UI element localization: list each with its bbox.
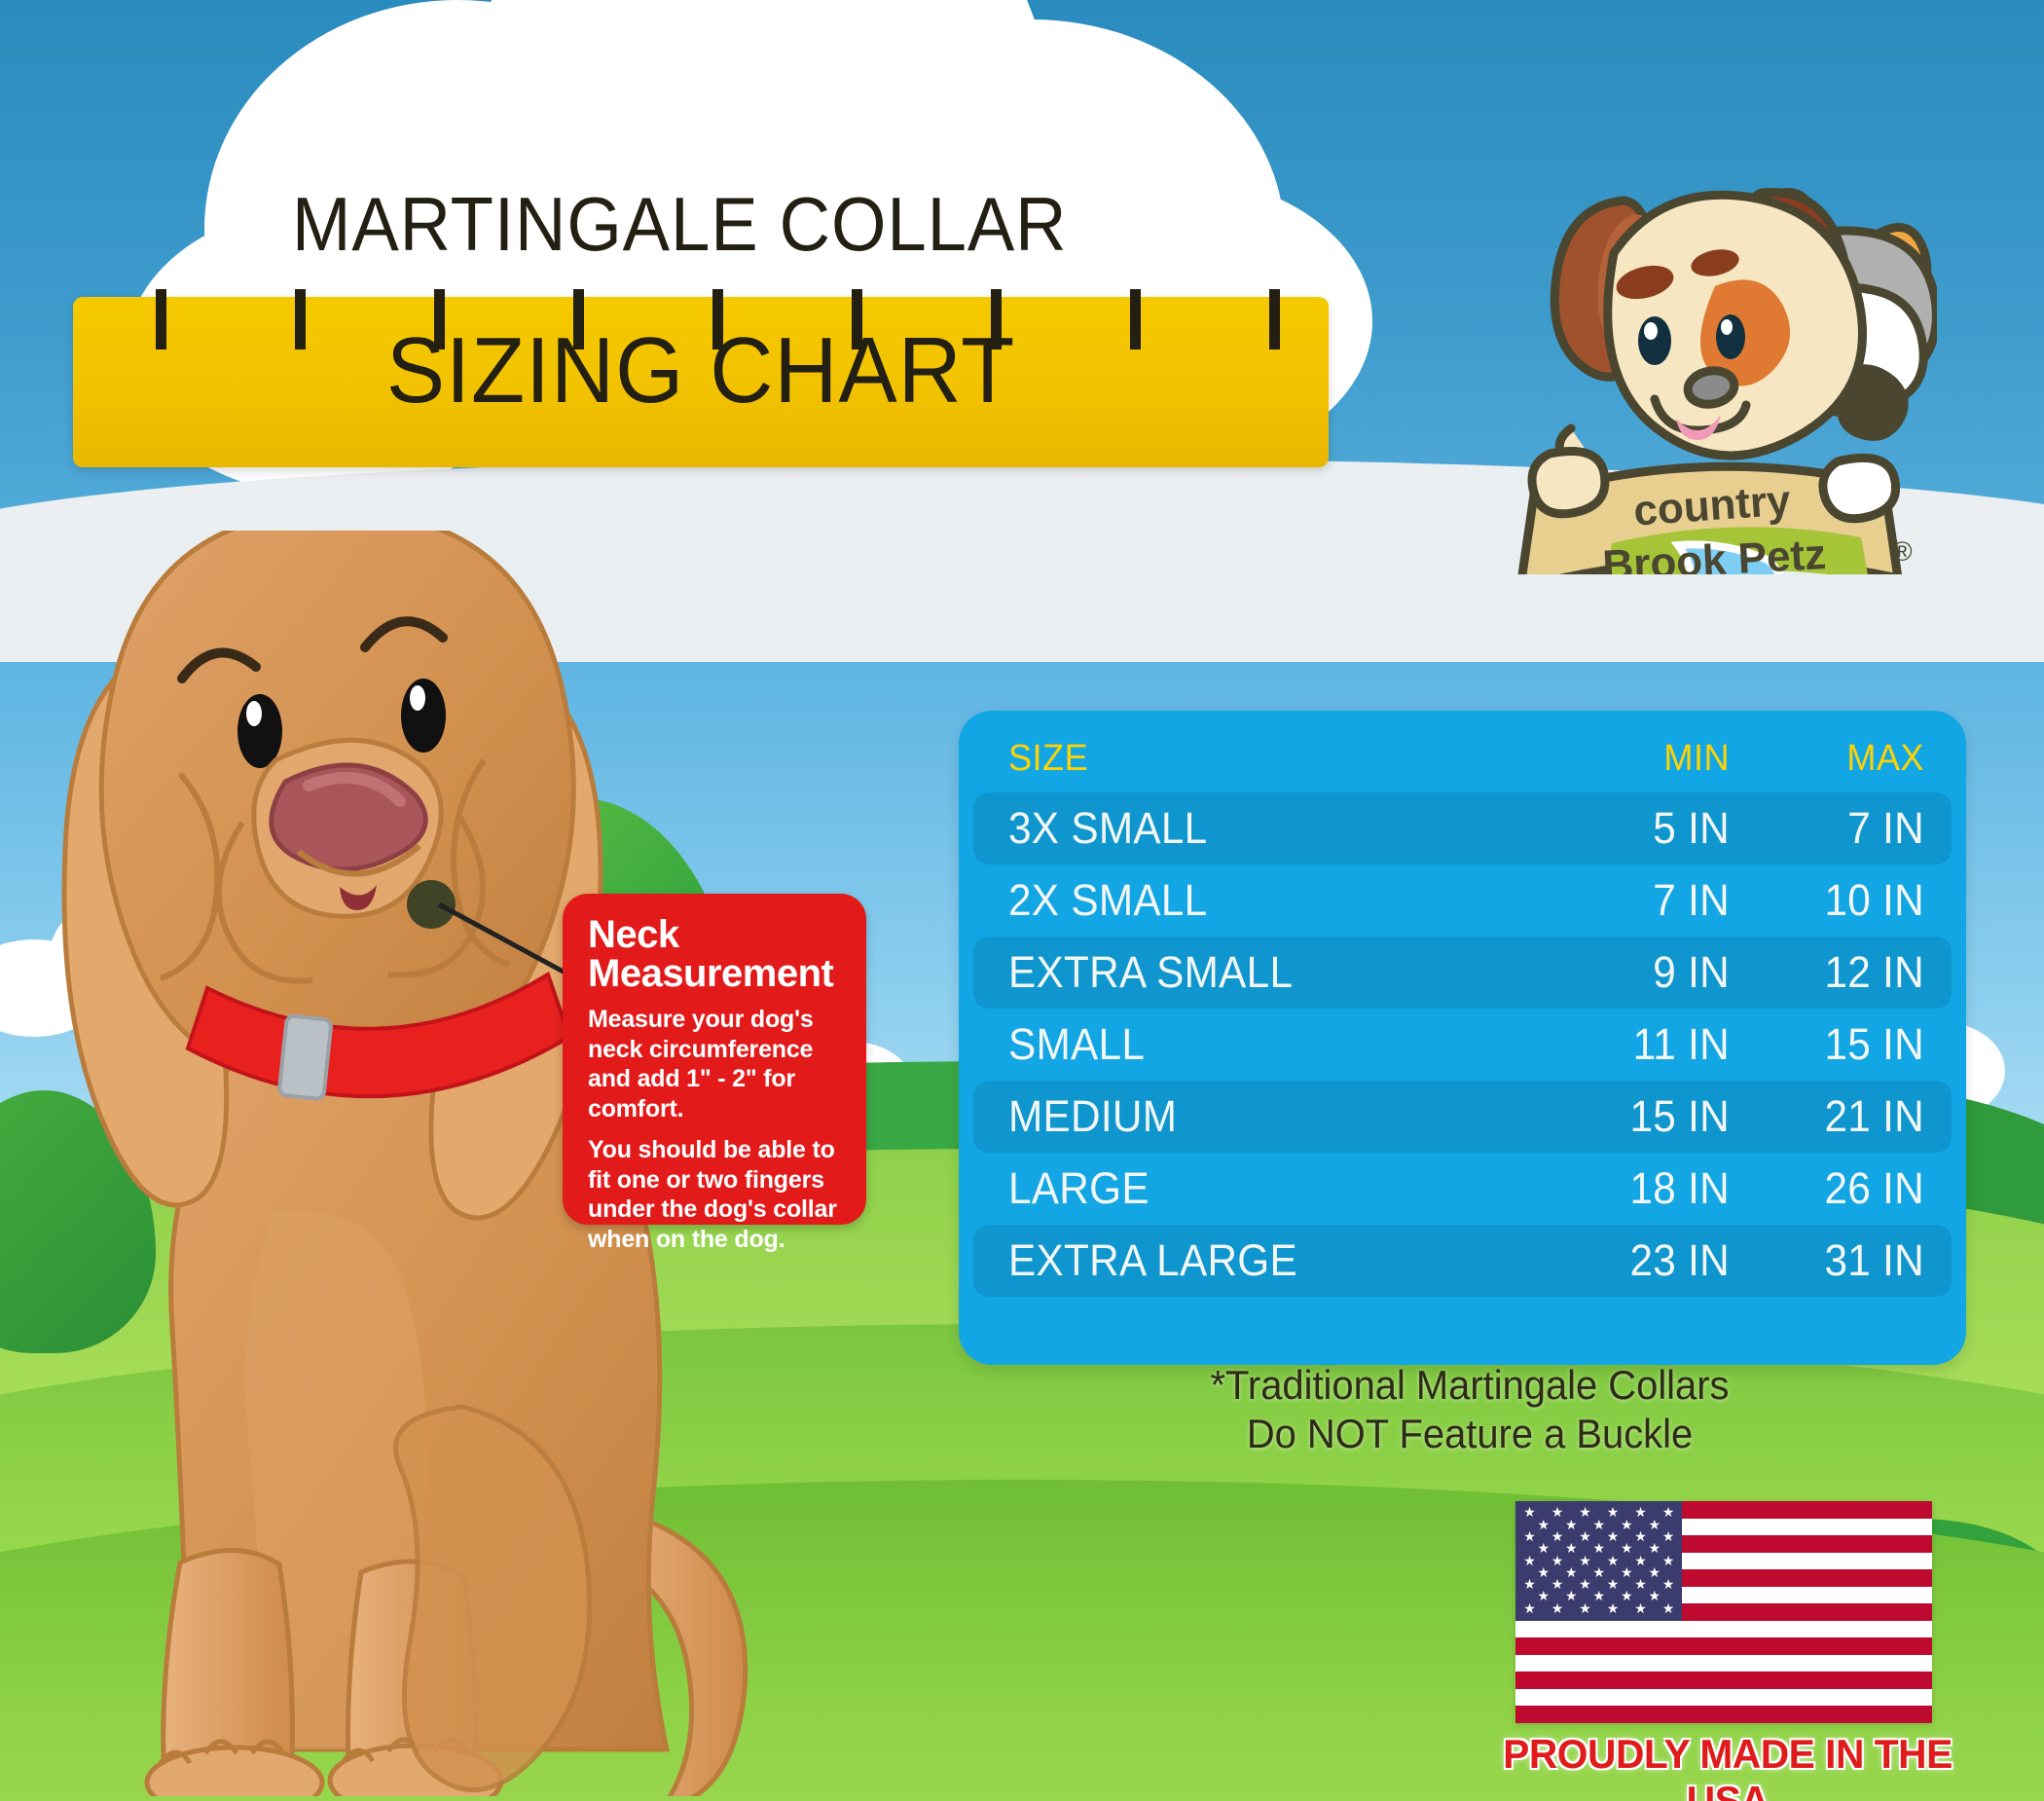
usa-flag-icon: ★★★★★★★★★★★★★★★★★★★★★★★★★★★★★★★★★★★★★★★★… xyxy=(1515,1501,1932,1723)
flag-star-icon: ★ xyxy=(1621,1566,1632,1578)
flag-star-icon: ★ xyxy=(1579,1578,1590,1590)
flag-star-icon: ★ xyxy=(1662,1555,1674,1566)
flag-star-icon: ★ xyxy=(1538,1542,1550,1554)
cell-size: SMALL xyxy=(1008,1019,1476,1070)
cell-size: MEDIUM xyxy=(1008,1091,1476,1142)
buckle-note-line-2: Do NOT Feature a Buckle xyxy=(1054,1410,1886,1458)
sizing-table-panel: SIZE MIN MAX 3X SMALL 5 IN 7 IN 2X SMALL… xyxy=(959,711,1966,1365)
flag-star-icon: ★ xyxy=(1634,1530,1646,1542)
column-header-max: MAX xyxy=(1739,738,1924,780)
cell-max: 7 IN xyxy=(1741,803,1924,854)
flag-star-icon: ★ xyxy=(1523,1530,1535,1542)
table-row: 3X SMALL 5 IN 7 IN xyxy=(973,792,1952,864)
flag-star-icon: ★ xyxy=(1662,1506,1674,1518)
cell-max: 31 IN xyxy=(1741,1235,1924,1286)
flag-star-icon: ★ xyxy=(1607,1530,1619,1542)
flag-star-icon: ★ xyxy=(1565,1590,1577,1601)
flag-star-icon: ★ xyxy=(1551,1555,1563,1566)
sizing-table: SIZE MIN MAX 3X SMALL 5 IN 7 IN 2X SMALL… xyxy=(973,724,1952,1297)
column-header-size: SIZE xyxy=(1008,738,1480,780)
flag-star-icon: ★ xyxy=(1523,1555,1535,1566)
table-row: EXTRA LARGE 23 IN 31 IN xyxy=(973,1225,1952,1297)
sizing-chart-poster: MARTINGALE COLLAR SIZING CHART xyxy=(0,0,2044,1801)
cell-min: 9 IN xyxy=(1519,947,1730,998)
cell-max: 12 IN xyxy=(1741,947,1924,998)
callout-paragraph-2: You should be able to fit one or two fin… xyxy=(588,1135,845,1254)
flag-star-icon: ★ xyxy=(1634,1555,1646,1566)
page-title: SIZING CHART xyxy=(111,322,1292,421)
registered-mark-icon: ® xyxy=(1892,536,1913,567)
table-row: EXTRA SMALL 9 IN 12 IN xyxy=(973,937,1952,1009)
flag-star-icon: ★ xyxy=(1565,1566,1577,1578)
flag-star-icon: ★ xyxy=(1551,1506,1563,1518)
flag-star-icon: ★ xyxy=(1579,1506,1590,1518)
flag-star-icon: ★ xyxy=(1538,1566,1550,1578)
flag-star-icon: ★ xyxy=(1649,1519,1661,1530)
flag-star-icon: ★ xyxy=(1662,1578,1674,1590)
table-header-row: SIZE MIN MAX xyxy=(973,724,1952,792)
made-in-usa-label: PROUDLY MADE IN THE USA xyxy=(1496,1731,1958,1801)
table-row: SMALL 11 IN 15 IN xyxy=(973,1009,1952,1081)
brand-logo: country Brook Petz ® xyxy=(1470,107,1937,574)
cell-max: 10 IN xyxy=(1741,875,1924,926)
collar-pointer-dot xyxy=(407,880,456,929)
flag-star-icon: ★ xyxy=(1662,1602,1674,1614)
cell-size: 3X SMALL xyxy=(1008,803,1476,854)
cell-min: 15 IN xyxy=(1519,1091,1730,1142)
flag-star-icon: ★ xyxy=(1593,1590,1605,1601)
cell-max: 21 IN xyxy=(1741,1091,1924,1142)
flag-star-icon: ★ xyxy=(1634,1602,1646,1614)
flag-star-icon: ★ xyxy=(1565,1542,1577,1554)
table-row: MEDIUM 15 IN 21 IN xyxy=(973,1081,1952,1153)
flag-star-icon: ★ xyxy=(1607,1555,1619,1566)
neck-measurement-callout: Neck Measurement Measure your dog's neck… xyxy=(563,894,866,1225)
flag-star-icon: ★ xyxy=(1579,1530,1590,1542)
cell-size: EXTRA LARGE xyxy=(1008,1235,1476,1286)
flag-star-icon: ★ xyxy=(1551,1578,1563,1590)
flag-star-icon: ★ xyxy=(1523,1602,1535,1614)
flag-star-icon: ★ xyxy=(1621,1590,1632,1601)
flag-star-icon: ★ xyxy=(1634,1506,1646,1518)
flag-star-icon: ★ xyxy=(1551,1530,1563,1542)
flag-star-icon: ★ xyxy=(1523,1506,1535,1518)
column-header-min: MIN xyxy=(1517,738,1731,780)
flag-star-icon: ★ xyxy=(1607,1602,1619,1614)
callout-paragraph-1: Measure your dog's neck circumference an… xyxy=(588,1005,845,1123)
cell-min: 18 IN xyxy=(1519,1163,1730,1214)
flag-star-icon: ★ xyxy=(1538,1519,1550,1530)
flag-star-icon: ★ xyxy=(1662,1530,1674,1542)
flag-star-icon: ★ xyxy=(1523,1578,1535,1590)
flag-star-icon: ★ xyxy=(1607,1506,1619,1518)
flag-star-icon: ★ xyxy=(1565,1519,1577,1530)
cell-min: 5 IN xyxy=(1519,803,1730,854)
flag-star-icon: ★ xyxy=(1538,1590,1550,1601)
page-subtitle: MARTINGALE COLLAR xyxy=(292,180,1068,269)
buckle-note-line-1: *Traditional Martingale Collars xyxy=(1054,1361,1886,1410)
flag-star-icon: ★ xyxy=(1621,1542,1632,1554)
cell-size: EXTRA SMALL xyxy=(1008,947,1476,998)
flag-star-icon: ★ xyxy=(1551,1602,1563,1614)
buckle-note: *Traditional Martingale Collars Do NOT F… xyxy=(1054,1361,1886,1457)
flag-star-icon: ★ xyxy=(1593,1519,1605,1530)
table-row: LARGE 18 IN 26 IN xyxy=(973,1153,1952,1225)
flag-canton: ★★★★★★★★★★★★★★★★★★★★★★★★★★★★★★★★★★★★★★★★… xyxy=(1515,1501,1682,1621)
flag-star-icon: ★ xyxy=(1593,1542,1605,1554)
flag-star-icon: ★ xyxy=(1607,1578,1619,1590)
cell-min: 7 IN xyxy=(1519,875,1730,926)
callout-heading: Neck Measurement xyxy=(588,915,845,993)
flag-star-icon: ★ xyxy=(1649,1566,1661,1578)
flag-star-icon: ★ xyxy=(1579,1602,1590,1614)
cell-max: 26 IN xyxy=(1741,1163,1924,1214)
cell-min: 23 IN xyxy=(1519,1235,1730,1286)
flag-star-icon: ★ xyxy=(1649,1590,1661,1601)
cell-size: 2X SMALL xyxy=(1008,875,1476,926)
flag-star-icon: ★ xyxy=(1579,1555,1590,1566)
ruler-banner: SIZING CHART xyxy=(73,297,1329,467)
cell-size: LARGE xyxy=(1008,1163,1476,1214)
flag-star-icon: ★ xyxy=(1621,1519,1632,1530)
table-row: 2X SMALL 7 IN 10 IN xyxy=(973,864,1952,937)
flag-star-icon: ★ xyxy=(1593,1566,1605,1578)
flag-star-icon: ★ xyxy=(1634,1578,1646,1590)
cell-min: 11 IN xyxy=(1519,1019,1730,1070)
flag-star-icon: ★ xyxy=(1649,1542,1661,1554)
cell-max: 15 IN xyxy=(1741,1019,1924,1070)
